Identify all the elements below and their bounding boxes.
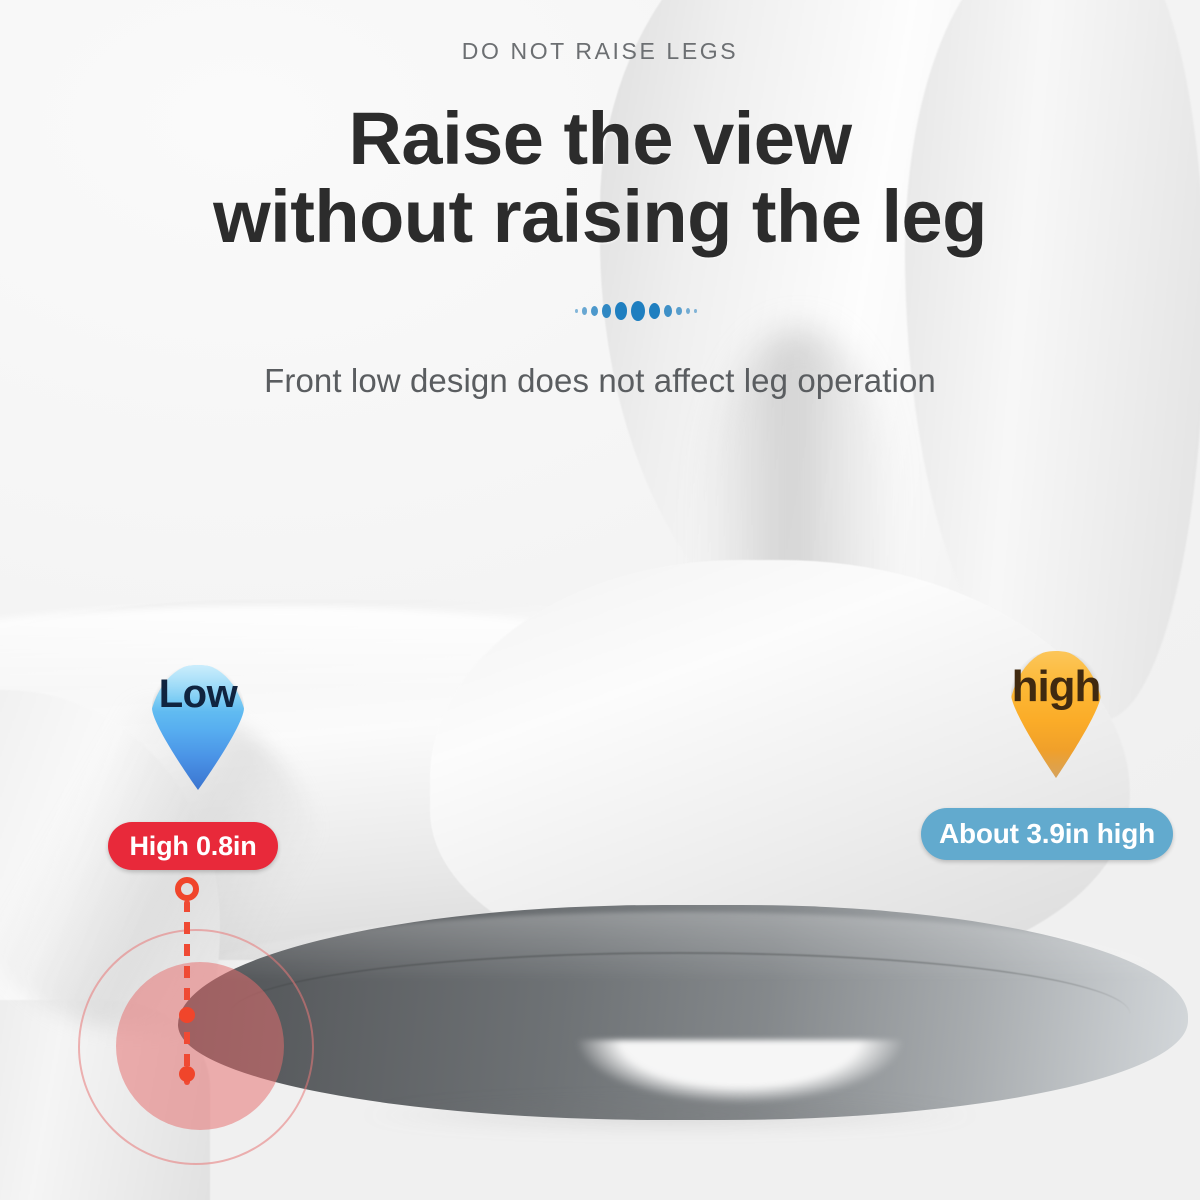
rear-height-badge: About 3.9in high <box>921 808 1173 860</box>
front-height-badge: High 0.8in <box>108 822 278 870</box>
divider-dot <box>686 308 690 314</box>
divider-dot <box>664 305 672 317</box>
callout-anchor-ring-icon <box>175 877 199 901</box>
divider-dot <box>631 301 645 321</box>
cushion-ground-shadow <box>220 1090 1120 1140</box>
blue-dot-divider-icon <box>575 298 697 324</box>
high-marker-pin: high <box>1008 650 1104 778</box>
low-marker-pin: Low <box>148 664 248 790</box>
title-line-2: without raising the leg <box>0 178 1200 256</box>
callout-highlight-disc <box>116 962 284 1130</box>
divider-dot <box>694 309 697 313</box>
callout-dashed-line <box>184 900 190 1085</box>
subtitle-text: Front low design does not affect leg ope… <box>0 362 1200 400</box>
high-pin-label: high <box>991 662 1121 712</box>
divider-dot <box>615 302 627 319</box>
divider-dot <box>649 303 660 319</box>
callout-dot-lower <box>179 1066 195 1082</box>
divider-dot <box>676 307 682 316</box>
callout-dot-upper <box>179 1007 195 1023</box>
divider-dot <box>602 304 611 317</box>
low-pin-label: Low <box>148 672 248 717</box>
divider-dot <box>582 307 587 314</box>
product-marketing-image: DO NOT RAISE LEGS Raise the view without… <box>0 0 1200 1200</box>
kicker-text: DO NOT RAISE LEGS <box>0 38 1200 65</box>
title-line-1: Raise the view <box>348 97 851 180</box>
divider-dot <box>591 306 598 316</box>
divider-dot <box>575 309 578 313</box>
page-title: Raise the view without raising the leg <box>0 100 1200 255</box>
